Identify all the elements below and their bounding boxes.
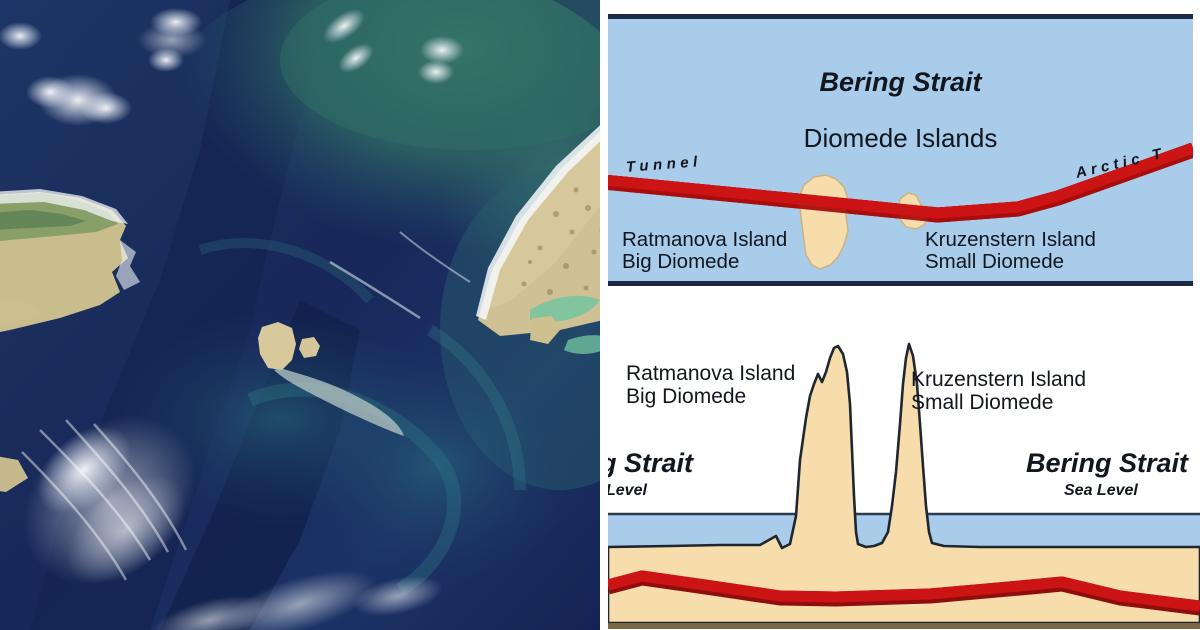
map-panel-title: Bering Strait <box>608 67 1193 98</box>
map-plan-view-panel: Bering Strait Diomede Islands Tunnel Arc… <box>608 14 1193 286</box>
xs-sea-level-label-right: Sea Level <box>1064 482 1138 500</box>
xs-strait-label-right: Bering Strait <box>1026 448 1188 479</box>
bering-strait-satellite-photo <box>0 0 600 630</box>
map-label-big-diomede: Ratmanova Island Big Diomede <box>622 229 787 273</box>
map-label-small-diomede-line2: Small Diomede <box>925 251 1096 273</box>
map-label-small-diomede: Kruzenstern Island Small Diomede <box>925 229 1096 273</box>
xs-label-small-diomede: Kruzenstern Island Small Diomede <box>911 368 1086 414</box>
xs-label-big-diomede-line2: Big Diomede <box>626 385 795 408</box>
xs-label-big-diomede-line1: Ratmanova Island <box>626 362 795 385</box>
xs-label-big-diomede: Ratmanova Island Big Diomede <box>626 362 795 408</box>
map-panel-subtitle: Diomede Islands <box>608 123 1193 154</box>
xs-strait-label-left: g Strait <box>608 448 693 479</box>
map-label-big-diomede-line1: Ratmanova Island <box>622 229 787 251</box>
screenshot-root: Bering Strait Diomede Islands Tunnel Arc… <box>0 0 1200 630</box>
panel-bottom-bar <box>608 623 1200 629</box>
tunnel-schematic-diagram: Bering Strait Diomede Islands Tunnel Arc… <box>600 0 1200 630</box>
cross-section-panel: Ratmanova Island Big Diomede Kruzenstern… <box>608 300 1200 630</box>
satellite-image-graphic <box>0 0 600 630</box>
map-label-big-diomede-line2: Big Diomede <box>622 251 787 273</box>
xs-label-small-diomede-line1: Kruzenstern Island <box>911 368 1086 391</box>
xs-label-small-diomede-line2: Small Diomede <box>911 391 1086 414</box>
xs-sea-level-label-left: Level <box>608 482 647 500</box>
big-diomede-island-shape <box>800 175 848 269</box>
map-label-small-diomede-line1: Kruzenstern Island <box>925 229 1096 251</box>
